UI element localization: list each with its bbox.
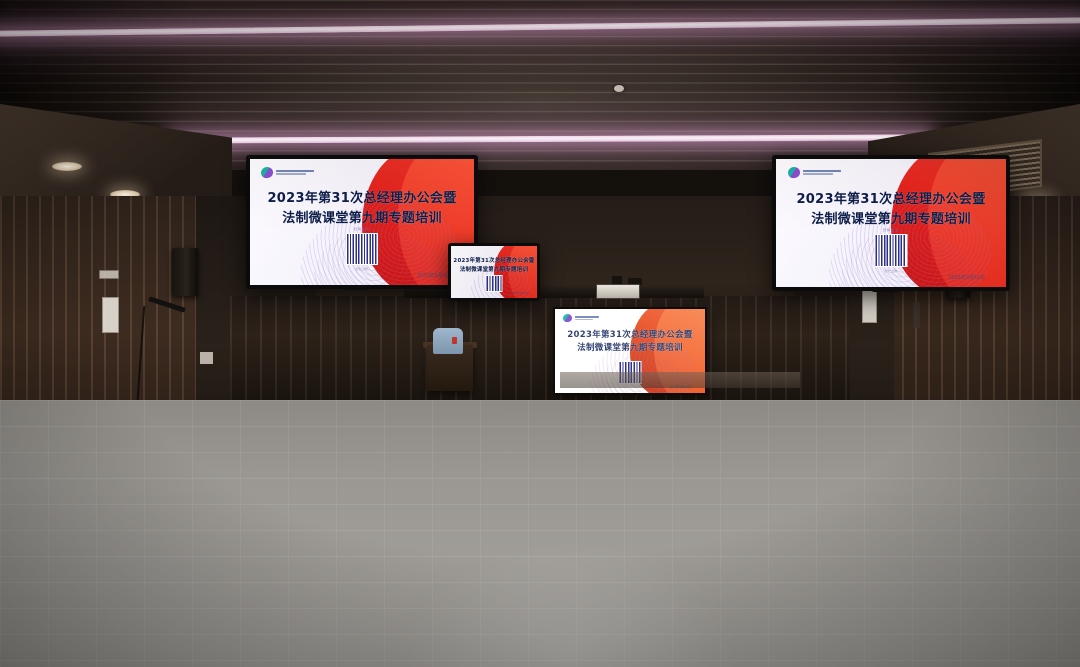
slide-title: 2023年第31次总经理办公会暨 法制微课堂第九期专题培训 [776,190,1006,230]
company-logo-icon [562,313,572,323]
wall-speaker [172,248,198,296]
presenter-badge [452,337,457,344]
slide-logo [261,167,314,178]
presenter-torso [433,328,463,354]
qr-sublabel: 签到二维码 [875,269,908,273]
slide-content: 2023年第31次总经理办公会暨 法制微课堂第九期专题培训 扫码签到 签到二维码… [250,159,474,285]
presenter [433,317,463,351]
monitor-mount [344,285,370,290]
slide-title: 2023年第31次总经理办公会暨 法制微课堂第九期专题培训 [555,329,705,355]
slide-title: 2023年第31次总经理办公会暨 法制微课堂第九期专题培训 [451,257,537,274]
company-logo-icon [786,166,800,179]
slide-date: 2023年9月16日 [511,291,529,295]
slide-qr-block: 扫码签到 签到二维码 [875,228,908,273]
slide-content: 2023年第31次总经理办公会暨 法制微课堂第九期专题培训 2023年9月16日 [451,246,537,298]
wall-sign [862,288,877,323]
slide-qr-block [486,275,503,292]
ceiling-sensor-icon [614,85,624,92]
slide-logo [788,167,841,178]
qr-caption: 扫码签到 [346,227,378,231]
ceiling-projector [596,284,640,299]
company-logo-icon [260,165,274,178]
company-name-text [803,170,841,175]
wall-plaque [913,302,920,328]
qr-sublabel: 签到二维码 [346,267,378,271]
wall-sign [102,297,119,333]
qr-code-icon [346,233,378,265]
conference-room-photo: ▮▮▮ 2023年第31次总经理办公会暨 法制微课堂第九期专题培训 扫码签到 签… [0,0,1080,667]
mid-left-monitor: 2023年第31次总经理办公会暨 法制微课堂第九期专题培训 2023年9月16日 [448,243,540,301]
slide-date: 2023年9月16日 [949,274,985,281]
company-name-text [276,170,314,175]
slide-title: 2023年第31次总经理办公会暨 法制微课堂第九期专题培训 [250,189,474,229]
audience [0,356,1080,667]
qr-caption: 扫码签到 [875,228,908,232]
slide-logo [563,314,599,322]
light-switch-panel[interactable] [99,270,119,279]
left-wall-monitor: 2023年第31次总经理办公会暨 法制微课堂第九期专题培训 扫码签到 签到二维码… [246,155,478,289]
qr-code-icon [875,234,908,267]
right-wall-monitor: 2023年第31次总经理办公会暨 法制微课堂第九期专题培训 扫码签到 签到二维码… [772,155,1010,291]
slide-qr-block: 扫码签到 签到二维码 [346,227,378,271]
qr-code-icon [486,275,503,292]
downlight-icon [52,162,82,171]
slide-content: 2023年第31次总经理办公会暨 法制微课堂第九期专题培训 扫码签到 签到二维码… [776,159,1006,287]
company-name-text [575,316,599,320]
monitor-mount [872,287,900,292]
